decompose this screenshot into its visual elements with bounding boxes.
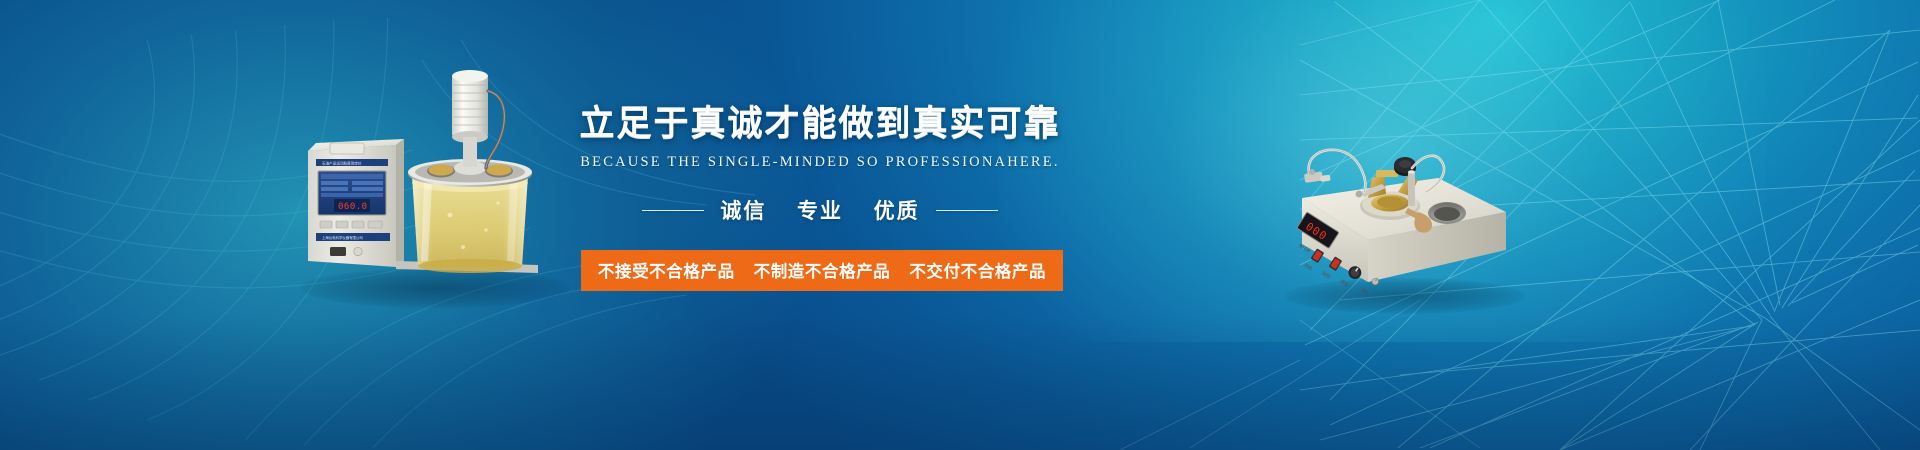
svg-text:预转: 预转 xyxy=(1359,287,1371,298)
subheadline-english: BECAUSE THE SINGLE-MINDED SO PROFESSIONA… xyxy=(560,154,1080,171)
banner-copy: 立足于真诚才能做到真实可靠 BECAUSE THE SINGLE-MINDED … xyxy=(560,104,1080,291)
headline: 立足于真诚才能做到真实可靠 xyxy=(560,104,1080,145)
tagline-rule-left xyxy=(642,210,704,211)
svg-text:加热: 加热 xyxy=(1320,270,1332,281)
tagline: 诚信 专业 优质 xyxy=(720,195,919,225)
flash-point-tester-image: 000 电压表 风机 加热 调温 预转 xyxy=(1290,120,1520,305)
tagline-word-3: 优质 xyxy=(874,199,920,223)
svg-text:石油产品运动粘度测定仪: 石油产品运动粘度测定仪 xyxy=(322,160,362,165)
slogan-part-1: 不接受不合格产品 xyxy=(598,262,735,281)
slogan-part-2: 不制造不合格产品 xyxy=(754,262,891,281)
promo-banner: 石油产品运动粘度测定仪 060.0 上海仪 xyxy=(0,0,1920,450)
slogan-part-3: 不交付不合格产品 xyxy=(909,262,1046,281)
tagline-word-1: 诚信 xyxy=(720,199,766,223)
svg-text:风机: 风机 xyxy=(1302,262,1314,273)
viscometer-bath-image: 石油产品运动粘度测定仪 060.0 上海仪 xyxy=(300,55,560,295)
slogan-bar: 不接受不合格产品 不制造不合格产品 不交付不合格产品 xyxy=(581,250,1063,291)
tagline-word-2: 专业 xyxy=(797,199,843,223)
tagline-rule-right xyxy=(936,210,998,211)
svg-text:调温: 调温 xyxy=(1338,278,1350,289)
svg-text:060.0: 060.0 xyxy=(338,202,368,212)
tagline-row: 诚信 专业 优质 xyxy=(560,195,1080,225)
svg-text:上海仪电科学仪器有限公司: 上海仪电科学仪器有限公司 xyxy=(322,235,363,240)
